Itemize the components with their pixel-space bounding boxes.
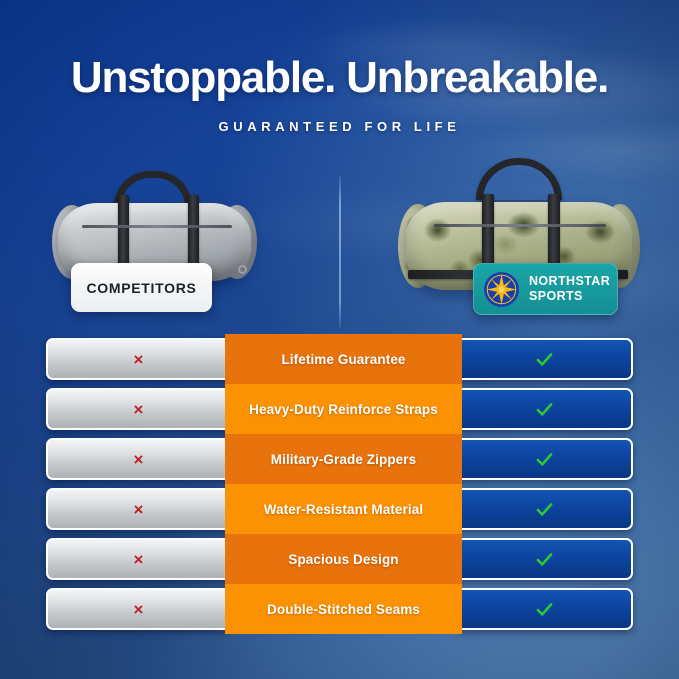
brand-name-line2: SPORTS bbox=[529, 289, 583, 303]
feature-label: Double-Stitched Seams bbox=[267, 602, 420, 617]
page-title: Unstoppable. Unbreakable. bbox=[0, 55, 679, 101]
northstar-brand-badge: NORTHSTAR SPORTS bbox=[473, 263, 618, 315]
compass-star-seal-icon bbox=[483, 271, 520, 308]
competitor-cell: × bbox=[46, 538, 231, 580]
competitors-label-badge: COMPETITORS bbox=[71, 263, 212, 312]
feature-cell: Military-Grade Zippers bbox=[225, 434, 462, 484]
vertical-divider bbox=[339, 176, 341, 328]
bag-zipper bbox=[434, 224, 606, 227]
competitor-cell: × bbox=[46, 338, 231, 380]
table-row: ×Heavy-Duty Reinforce Straps bbox=[0, 384, 679, 426]
feature-cell: Lifetime Guarantee bbox=[225, 334, 462, 384]
feature-label: Water-Resistant Material bbox=[264, 502, 423, 517]
header: Unstoppable. Unbreakable. GUARANTEED FOR… bbox=[0, 55, 679, 134]
check-icon bbox=[535, 550, 554, 569]
competitor-cell: × bbox=[46, 488, 231, 530]
cross-icon: × bbox=[134, 601, 144, 618]
check-icon bbox=[535, 600, 554, 619]
brand-name-text: NORTHSTAR SPORTS bbox=[529, 274, 610, 305]
competitor-cell: × bbox=[46, 588, 231, 630]
feature-label: Lifetime Guarantee bbox=[281, 352, 405, 367]
bag-zipper bbox=[82, 225, 232, 228]
northstar-cell bbox=[455, 338, 633, 380]
feature-label: Heavy-Duty Reinforce Straps bbox=[249, 402, 438, 417]
feature-cell: Spacious Design bbox=[225, 534, 462, 584]
table-row: ×Spacious Design bbox=[0, 534, 679, 576]
table-row: ×Water-Resistant Material bbox=[0, 484, 679, 526]
competitors-label-text: COMPETITORS bbox=[86, 280, 196, 296]
northstar-cell bbox=[455, 488, 633, 530]
table-row: ×Double-Stitched Seams bbox=[0, 584, 679, 626]
feature-cell: Water-Resistant Material bbox=[225, 484, 462, 534]
table-row: ×Military-Grade Zippers bbox=[0, 434, 679, 476]
comparison-table: ×Lifetime Guarantee×Heavy-Duty Reinforce… bbox=[0, 334, 679, 644]
page-subtitle: GUARANTEED FOR LIFE bbox=[0, 119, 679, 134]
northstar-cell bbox=[455, 388, 633, 430]
check-icon bbox=[535, 400, 554, 419]
feature-cell: Double-Stitched Seams bbox=[225, 584, 462, 634]
feature-label: Military-Grade Zippers bbox=[271, 452, 417, 467]
cross-icon: × bbox=[134, 501, 144, 518]
feature-cell: Heavy-Duty Reinforce Straps bbox=[225, 384, 462, 434]
cross-icon: × bbox=[134, 451, 144, 468]
check-icon bbox=[535, 500, 554, 519]
northstar-cell bbox=[455, 538, 633, 580]
cross-icon: × bbox=[134, 351, 144, 368]
check-icon bbox=[535, 350, 554, 369]
check-icon bbox=[535, 450, 554, 469]
cross-icon: × bbox=[134, 551, 144, 568]
cross-icon: × bbox=[134, 401, 144, 418]
competitor-cell: × bbox=[46, 388, 231, 430]
northstar-cell bbox=[455, 588, 633, 630]
table-row: ×Lifetime Guarantee bbox=[0, 334, 679, 376]
brand-name-line1: NORTHSTAR bbox=[529, 274, 610, 288]
northstar-cell bbox=[455, 438, 633, 480]
bag-d-ring bbox=[238, 265, 247, 274]
feature-label: Spacious Design bbox=[288, 552, 398, 567]
competitor-cell: × bbox=[46, 438, 231, 480]
